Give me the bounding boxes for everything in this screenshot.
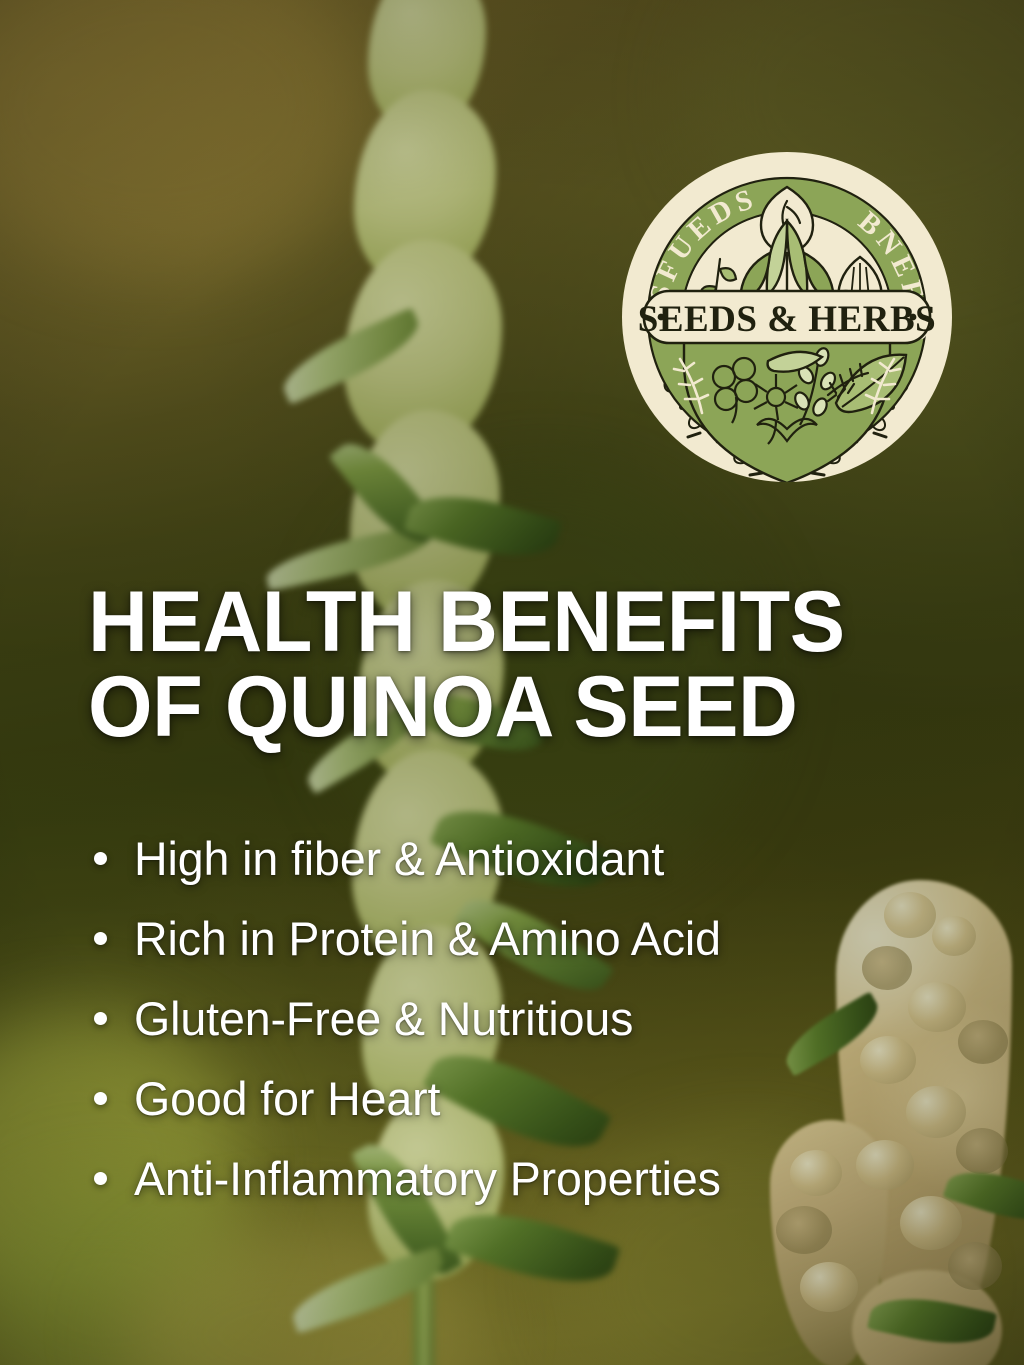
bullet-icon — [94, 852, 107, 865]
list-item: Rich in Protein & Amino Acid — [92, 898, 992, 978]
logo-banner-text: SEEDS & HERBS — [638, 299, 937, 340]
list-item-label: Anti-Inflammatory Properties — [134, 1155, 721, 1202]
list-item: Gluten-Free & Nutritious — [92, 978, 992, 1058]
bullet-icon — [94, 932, 107, 945]
brand-logo[interactable]: SFUEDS BNEF29 SEEDS & HERBS — [622, 145, 952, 489]
benefits-list: High in fiber & Antioxidant Rich in Prot… — [92, 818, 992, 1218]
list-item: Good for Heart — [92, 1058, 992, 1138]
list-item: Anti-Inflammatory Properties — [92, 1138, 992, 1218]
bullet-icon — [94, 1172, 107, 1185]
list-item-label: Gluten-Free & Nutritious — [134, 995, 633, 1042]
page-title: Health Benefits of Quinoa Seed — [88, 580, 937, 750]
list-item-label: High in fiber & Antioxidant — [134, 835, 664, 882]
poster-canvas: SFUEDS BNEF29 SEEDS & HERBS Health Benef… — [0, 0, 1024, 1365]
list-item-label: Good for Heart — [134, 1075, 440, 1122]
bullet-icon — [94, 1092, 107, 1105]
bullet-icon — [94, 1012, 107, 1025]
list-item-label: Rich in Protein & Amino Acid — [134, 915, 721, 962]
list-item: High in fiber & Antioxidant — [92, 818, 992, 898]
